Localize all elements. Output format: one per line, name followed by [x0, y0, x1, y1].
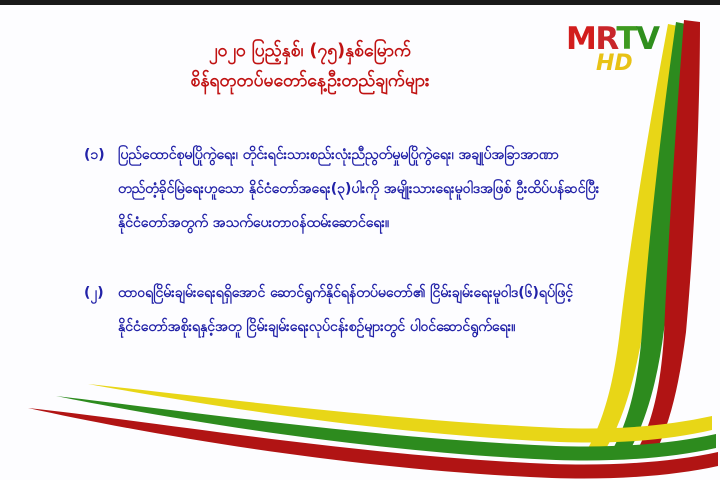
objective-1-text-1: ပြည်ထောင်စုမပြိုကွဲရေး၊ တိုင်းရင်းသားစည်…	[118, 147, 559, 163]
mrtv-logo: MRTV HD	[566, 24, 686, 86]
objective-2-line-2: နိုင်ငံတော်အစိုးရနှင့်အတူ ငြိမ်းချမ်းရေး…	[84, 310, 644, 344]
objective-item-1: (၁)ပြည်ထောင်စုမပြိုကွဲရေး၊ တိုင်းရင်းသား…	[84, 138, 644, 240]
letterbox-bar	[0, 0, 720, 5]
logo-letter-m: M	[566, 21, 595, 57]
title-line-2: စိန်ရတုတပ်မတော်နေ့ဦးတည်ချက်များ	[60, 66, 560, 96]
page-title: ၂၀၂၀ ပြည့်နှစ်၊ (၇၅)နှစ်မြောက် စိန်ရတုတပ…	[60, 36, 560, 96]
objective-1-line-2: တည်တံ့ခိုင်မြဲရေးဟူသော နိုင်ငံတော်အရေး(၃…	[84, 172, 644, 206]
objective-2-line-1: (၂)ထာဝရငြိမ်းချမ်းရေးရရှိအောင် ဆောင်ရွက်…	[84, 276, 644, 310]
objective-item-2: (၂)ထာဝရငြိမ်းချမ်းရေးရရှိအောင် ဆောင်ရွက်…	[84, 276, 644, 344]
objective-2-number: (၂)	[84, 276, 118, 310]
title-line-1: ၂၀၂၀ ပြည့်နှစ်၊ (၇၅)နှစ်မြောက်	[60, 36, 560, 66]
objective-1-line-1: (၁)ပြည်ထောင်စုမပြိုကွဲရေး၊ တိုင်းရင်းသား…	[84, 138, 644, 172]
objective-1-line-3: နိုင်ငံတော်အတွက် အသက်ပေးတာဝန်ထမ်းဆောင်ရေ…	[84, 206, 644, 240]
hd-badge: HD	[596, 53, 633, 75]
objective-1-number: (၁)	[84, 138, 118, 172]
broadcast-slide: MRTV HD ၂၀၂၀ ပြည့်နှစ်၊ (၇၅)နှစ်မြောက် စ…	[0, 0, 720, 480]
objective-2-text-1: ထာဝရငြိမ်းချမ်းရေးရရှိအောင် ဆောင်ရွက်နို…	[118, 285, 573, 301]
logo-letter-v: V	[636, 21, 659, 57]
